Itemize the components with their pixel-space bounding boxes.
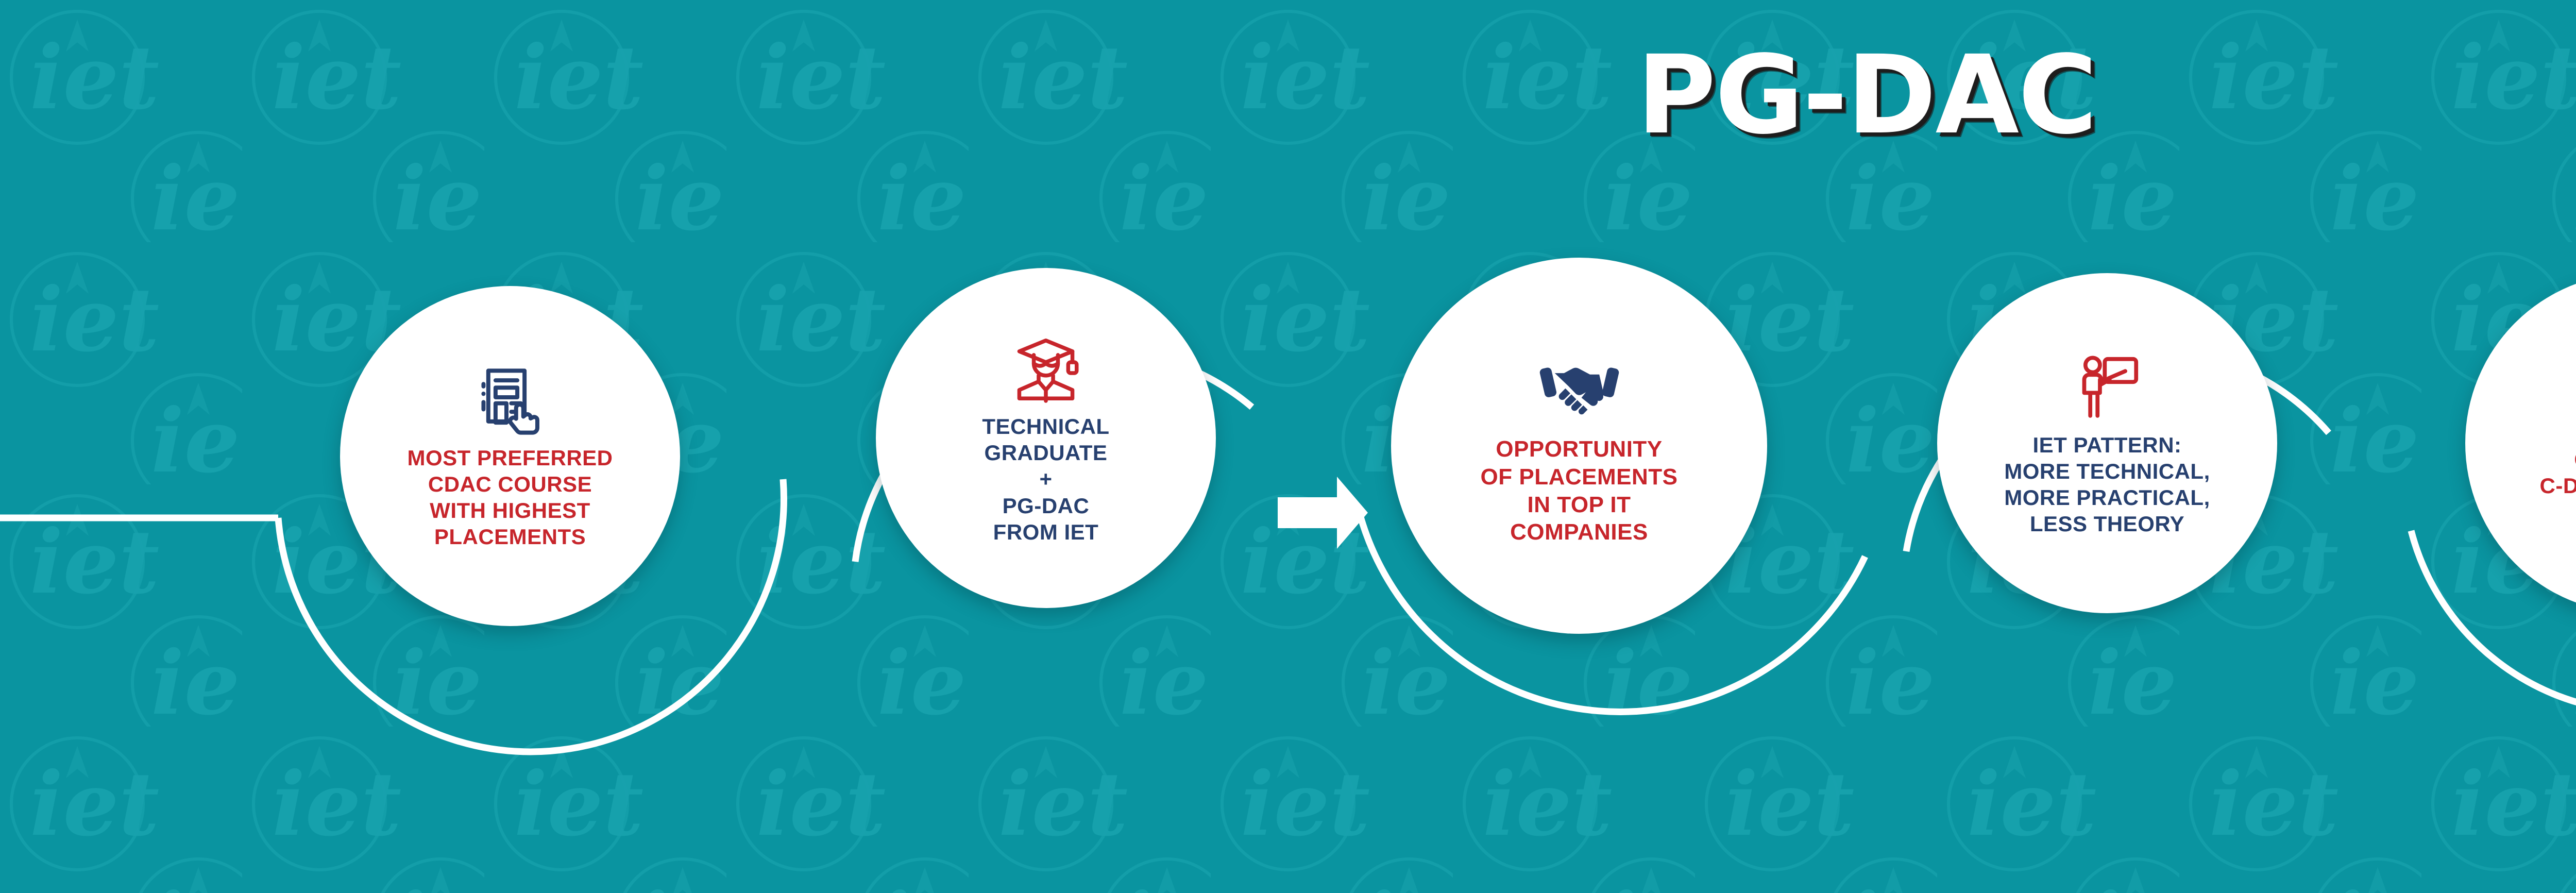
node-circle-1[interactable]: MOST PREFERRED CDAC COURSE WITH HIGHEST … (340, 286, 680, 626)
page-title-text: PG-DAC (1637, 41, 2096, 149)
node-circle-3[interactable]: OPPORTUNITY OF PLACEMENTS IN TOP IT COMP… (1391, 258, 1767, 634)
page-title: PG-DAC (0, 41, 2576, 149)
presenter-whiteboard-icon (2069, 349, 2146, 427)
node-label-1: MOST PREFERRED CDAC COURSE WITH HIGHEST … (403, 445, 617, 550)
handshake-icon (1537, 345, 1622, 430)
node-label-2: TECHNICAL GRADUATE + PG-DAC FROM IET (978, 413, 1113, 545)
node-label-3: OPPORTUNITY OF PLACEMENTS IN TOP IT COMP… (1477, 435, 1682, 546)
node-circle-5[interactable]: COMPLETE C-DAC ORIENTED SYLLABUS (2465, 273, 2576, 613)
node-label-5: COMPLETE C-DAC ORIENTED SYLLABUS (2536, 446, 2576, 526)
node-circle-4[interactable]: IET PATTERN: MORE TECHNICAL, MORE PRACTI… (1937, 273, 2277, 613)
node-circle-2[interactable]: TECHNICAL GRADUATE + PG-DAC FROM IET (876, 268, 1216, 608)
node-label-4: IET PATTERN: MORE TECHNICAL, MORE PRACTI… (2000, 432, 2214, 537)
document-form-hand-pointer-icon (471, 362, 549, 440)
graduate-student-icon (1007, 331, 1084, 408)
